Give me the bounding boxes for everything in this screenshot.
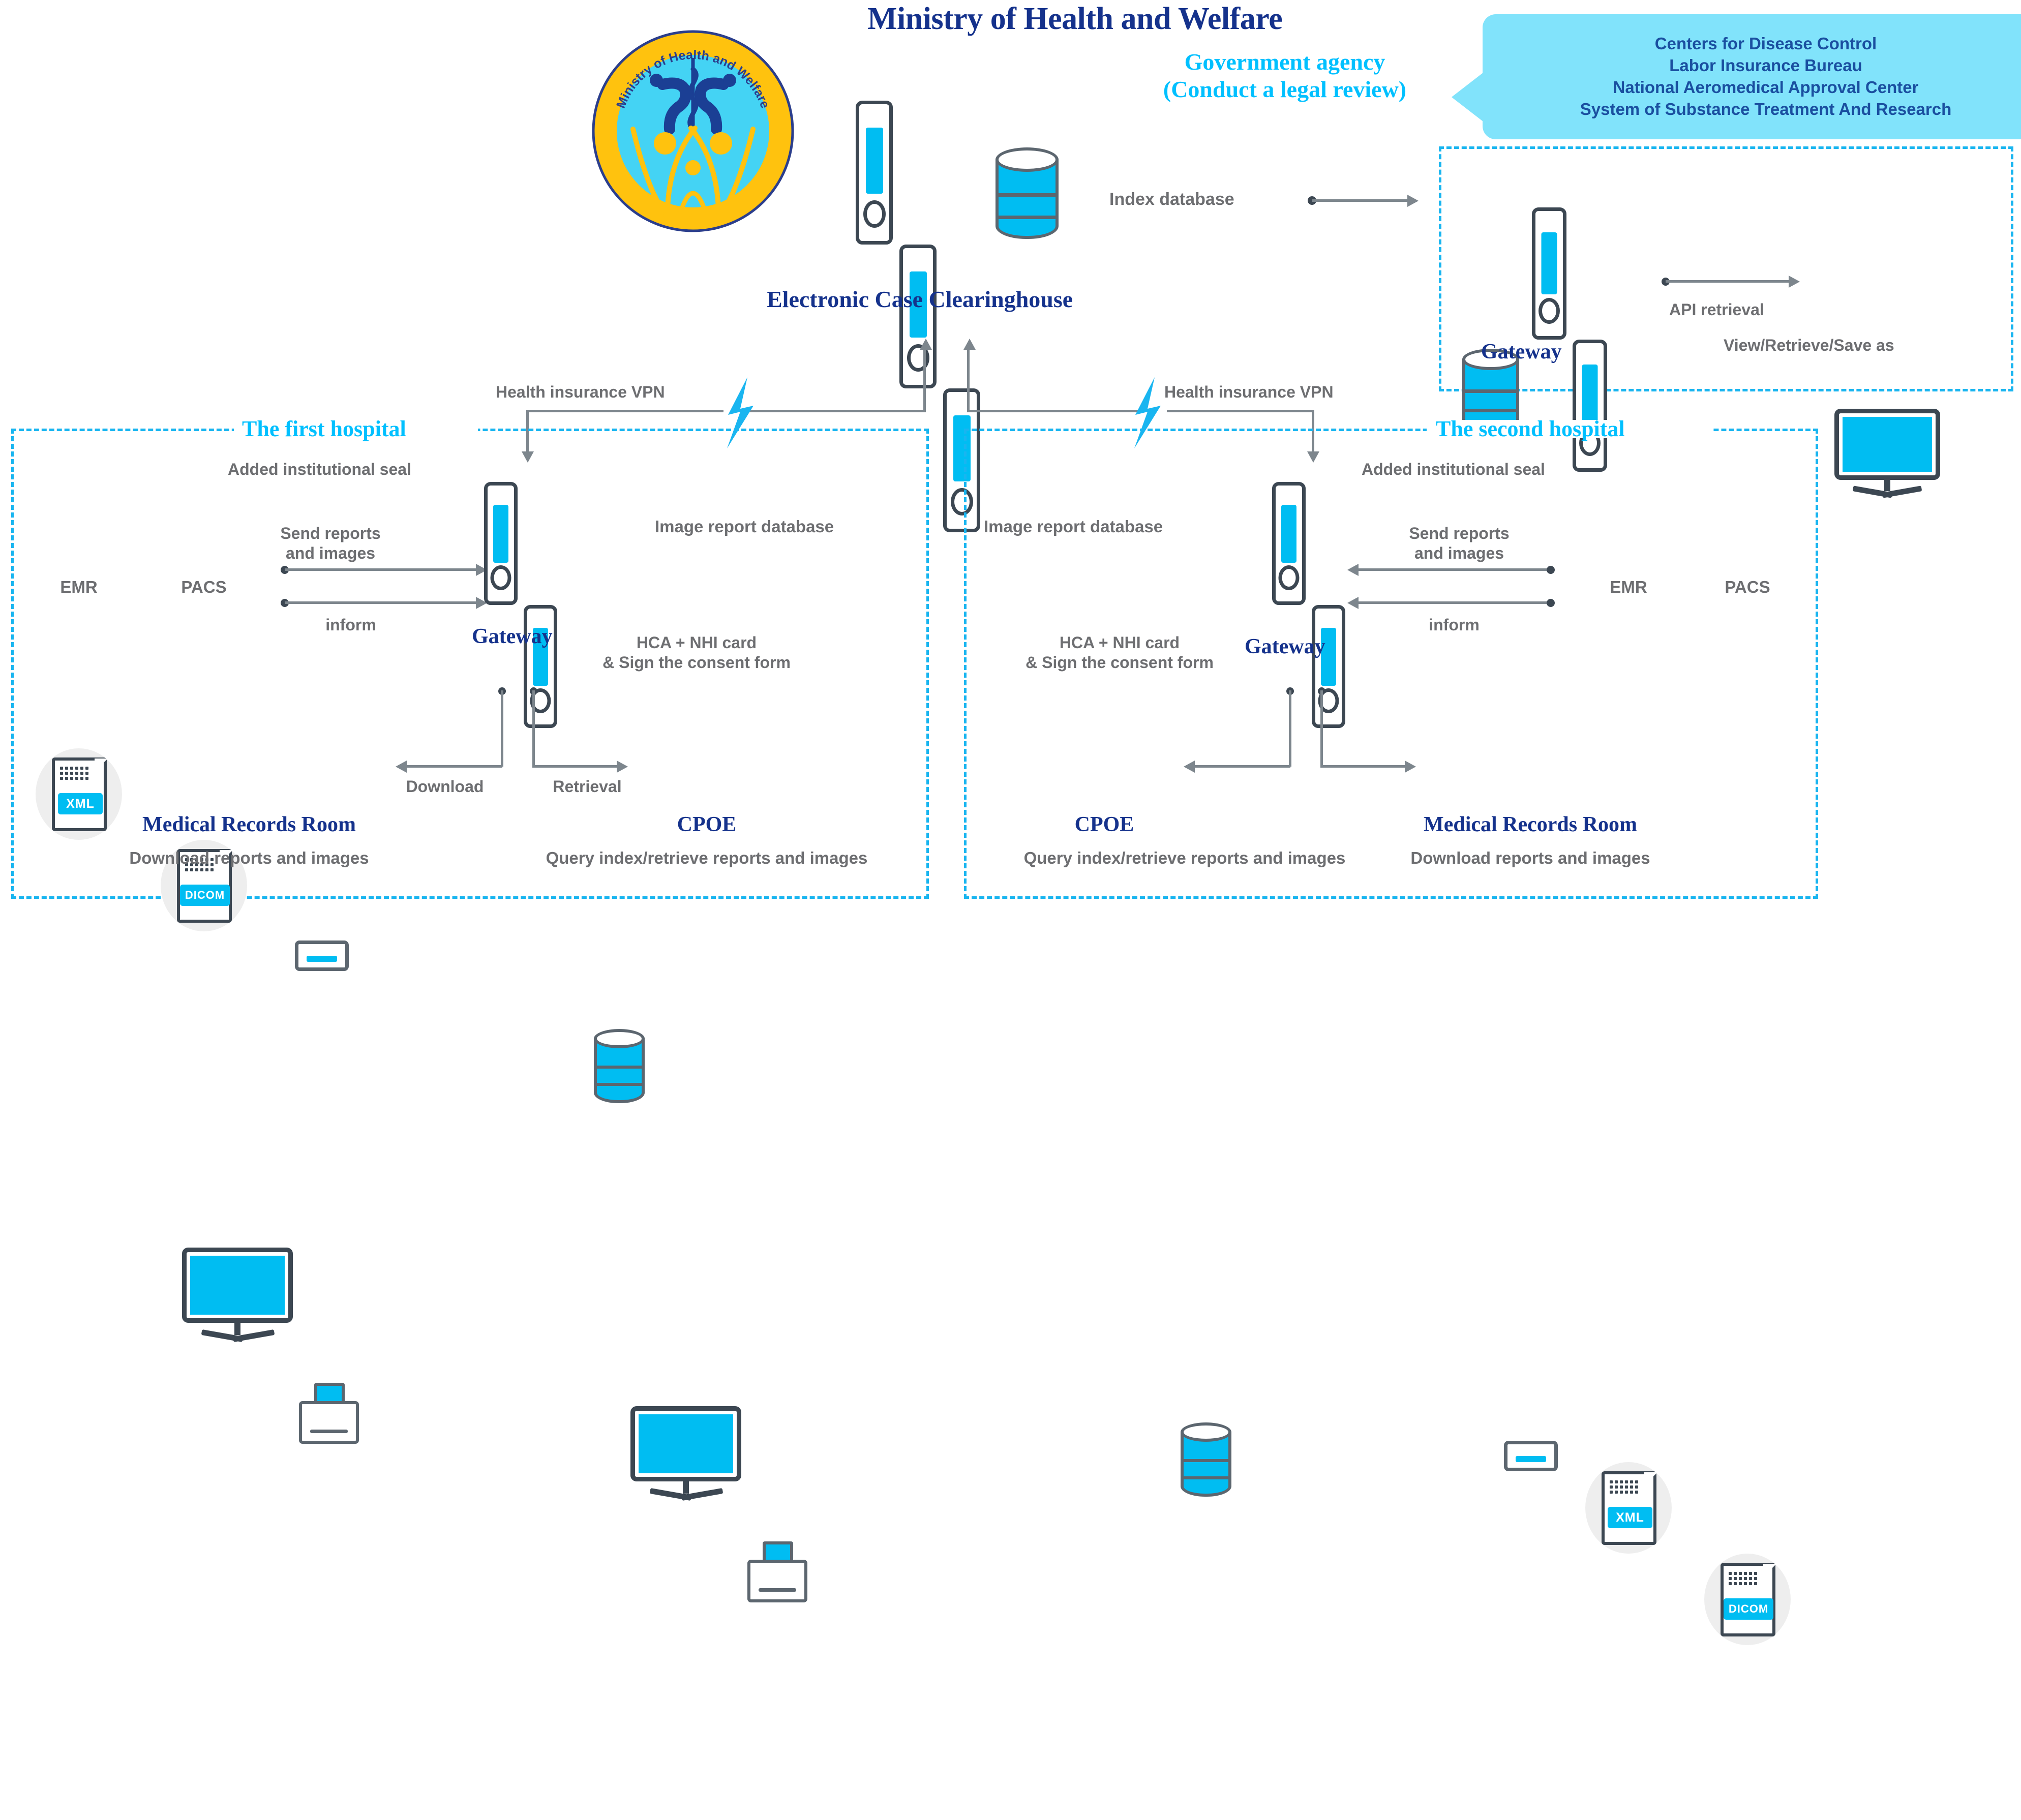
hospital2-hca-line2: & Sign the consent form	[1013, 653, 1226, 673]
hospital1-send-line1: Send reports	[269, 524, 391, 543]
vpn-right-riser	[967, 349, 970, 412]
hospital2-pacs-label: PACS	[1704, 577, 1791, 597]
vpn-right-arrowhead-up	[963, 339, 976, 350]
vpn-right-upper-run	[967, 410, 1149, 412]
callout-text: Centers for Disease Control Labor Insura…	[1580, 33, 1952, 120]
hospital2-cpoe-subtitle: Query index/retrieve reports and images	[961, 848, 1408, 868]
hospital2-title: The second hospital	[1436, 416, 1625, 442]
hospital2-cpoe-title: CPOE	[972, 812, 1236, 837]
hospital2-retrieval-run	[1195, 765, 1290, 768]
vpn-right-label: Health insurance VPN	[1164, 382, 1334, 402]
hospital1-hca-line1: HCA + NHI card	[590, 633, 803, 653]
page-title: Ministry of Health and Welfare	[867, 1, 1282, 37]
hospital2-imagedb-label: Image report database	[984, 517, 1163, 537]
agency-terminal-label: View/Retrieve/Save as	[1724, 336, 1894, 355]
hospital1-imagedb-icon	[594, 1029, 645, 1105]
hospital1-mrr-monitor-icon	[182, 1248, 293, 1344]
hospital2-retrieval-arrowhead	[1184, 761, 1195, 773]
hospital1-inform-label: inform	[305, 615, 397, 635]
hospital1-emr-label: EMR	[36, 577, 122, 597]
hospital1-download-riser	[501, 690, 503, 767]
government-agency-line2: (Conduct a legal review)	[1122, 76, 1447, 103]
callout-item-1: Labor Insurance Bureau	[1580, 55, 1952, 77]
vpn-left-upper-run	[734, 410, 926, 412]
binder-icon	[524, 605, 557, 728]
hospital1-cpoe-monitor-icon	[630, 1406, 741, 1503]
binder-icon	[1312, 605, 1345, 728]
hospital2-download-arrowhead	[1405, 761, 1416, 773]
binder-icon	[1532, 207, 1566, 340]
hospital2-send-line1: Send reports	[1398, 524, 1520, 543]
hospital2-hca-line1: HCA + NHI card	[1013, 633, 1226, 653]
api-arrowhead	[1789, 276, 1800, 288]
pacs-format-tag: DICOM	[180, 885, 230, 906]
pacs-format-tag: DICOM	[1724, 1598, 1773, 1620]
hospital1-title: The first hospital	[242, 416, 406, 442]
binder-icon	[856, 101, 893, 245]
binder-icon	[899, 245, 937, 388]
callout-item-3: System of Substance Treatment And Resear…	[1580, 99, 1952, 120]
index-database-label: Index database	[1109, 189, 1234, 210]
hospital2-send-line	[1358, 568, 1550, 571]
callout-bubble: Centers for Disease Control Labor Insura…	[1483, 14, 2021, 139]
svg-text:衛生福利部: 衛生福利部	[662, 211, 723, 225]
hospital1-imagedb-label: Image report database	[655, 517, 834, 537]
hospital2-download-riser	[1320, 690, 1323, 767]
emr-format-tag: XML	[58, 793, 103, 814]
hospital1-download-label: Download	[386, 777, 503, 797]
binder-icon	[1272, 482, 1306, 605]
api-line	[1666, 280, 1790, 283]
clearinghouse-database-icon	[996, 147, 1059, 242]
hospital2-mrr-subtitle: Download reports and images	[1373, 848, 1688, 868]
hospital1-inform-line	[285, 601, 477, 604]
binder-icon	[484, 482, 518, 605]
api-retrieval-label: API retrieval	[1669, 300, 1764, 320]
ministry-logo: Ministry of Health and Welfare 衛生福利部	[591, 29, 795, 233]
hospital2-send-line2: and images	[1398, 543, 1520, 563]
hospital2-inform-line	[1358, 601, 1550, 604]
hospital2-emr-label: EMR	[1585, 577, 1672, 597]
hospital1-retrieval-label: Retrieval	[529, 777, 646, 797]
agency-gateway-label: Gateway	[1481, 340, 1562, 364]
government-agency-line1: Government agency	[1122, 48, 1447, 76]
hospital2-seal-label: Added institutional seal	[1362, 460, 1545, 479]
hospital2-emr-icon: XML	[1585, 1462, 1672, 1554]
hospital1-send-label: Send reports and images	[269, 524, 391, 563]
index-db-line	[1312, 199, 1408, 202]
hospital1-hca-label: HCA + NHI card & Sign the consent form	[590, 633, 803, 673]
hospital2-send-dot	[1547, 566, 1555, 574]
hospital1-mrr-title: Medical Records Room	[92, 812, 407, 837]
hospital2-inform-label: inform	[1408, 615, 1500, 635]
hospital2-send-label: Send reports and images	[1398, 524, 1520, 563]
hospital2-pacs-icon: DICOM	[1704, 1554, 1791, 1645]
hospital1-cpoe-subtitle: Query index/retrieve reports and images	[453, 848, 961, 868]
hospital2-institutional-seal-icon	[1504, 1441, 1558, 1471]
hospital1-mrr-printer-icon	[299, 1383, 359, 1445]
hospital1-send-line2: and images	[269, 543, 391, 563]
agency-callout: Centers for Disease Control Labor Insura…	[1452, 14, 2021, 139]
hospital2-imagedb-icon	[1181, 1422, 1231, 1499]
index-db-arrowhead	[1407, 195, 1419, 207]
vpn-left-lower-run	[526, 410, 723, 412]
hospital1-retrieval-arrowhead	[617, 761, 628, 773]
hospital1-gateway-label: Gateway	[472, 624, 553, 649]
government-agency-label: Government agency (Conduct a legal revie…	[1122, 48, 1447, 104]
hospital1-seal-label: Added institutional seal	[228, 460, 411, 479]
hospital1-download-arrowhead	[396, 761, 407, 773]
hospital1-pacs-label: PACS	[161, 577, 247, 597]
vpn-right-lower-run	[1167, 410, 1314, 412]
emr-format-tag: XML	[1608, 1507, 1652, 1528]
hospital1-hca-line2: & Sign the consent form	[590, 653, 803, 673]
hospital2-inform-arrowhead	[1347, 597, 1359, 609]
hospital1-download-run	[407, 765, 502, 768]
hospital2-retrieval-riser	[1289, 690, 1291, 767]
hospital1-institutional-seal-icon	[295, 941, 349, 971]
hospital2-inform-dot	[1547, 599, 1555, 607]
vpn-left-riser	[923, 349, 926, 412]
hospital1-cpoe-title: CPOE	[564, 812, 849, 837]
vpn-left-label: Health insurance VPN	[496, 382, 665, 402]
hospital1-cpoe-printer-icon	[747, 1541, 807, 1603]
hospital2-gateway-label: Gateway	[1245, 634, 1325, 659]
hospital2-hca-label: HCA + NHI card & Sign the consent form	[1013, 633, 1226, 673]
agency-terminal-monitor-icon	[1834, 409, 1940, 500]
hospital2-mrr-title: Medical Records Room	[1373, 812, 1688, 837]
hospital1-retrieval-run	[532, 765, 618, 768]
hospital2-send-arrowhead	[1347, 564, 1359, 576]
hospital1-mrr-subtitle: Download reports and images	[92, 848, 407, 868]
callout-item-2: National Aeromedical Approval Center	[1580, 77, 1952, 99]
hospital2-download-run	[1320, 765, 1406, 768]
callout-tail	[1452, 73, 1483, 122]
clearinghouse-title: Electronic Case Clearinghouse	[767, 286, 1073, 313]
callout-item-0: Centers for Disease Control	[1580, 33, 1952, 55]
hospital1-retrieval-riser	[532, 690, 535, 767]
hospital1-send-line	[285, 568, 477, 571]
vpn-left-arrowhead-up	[920, 339, 932, 350]
